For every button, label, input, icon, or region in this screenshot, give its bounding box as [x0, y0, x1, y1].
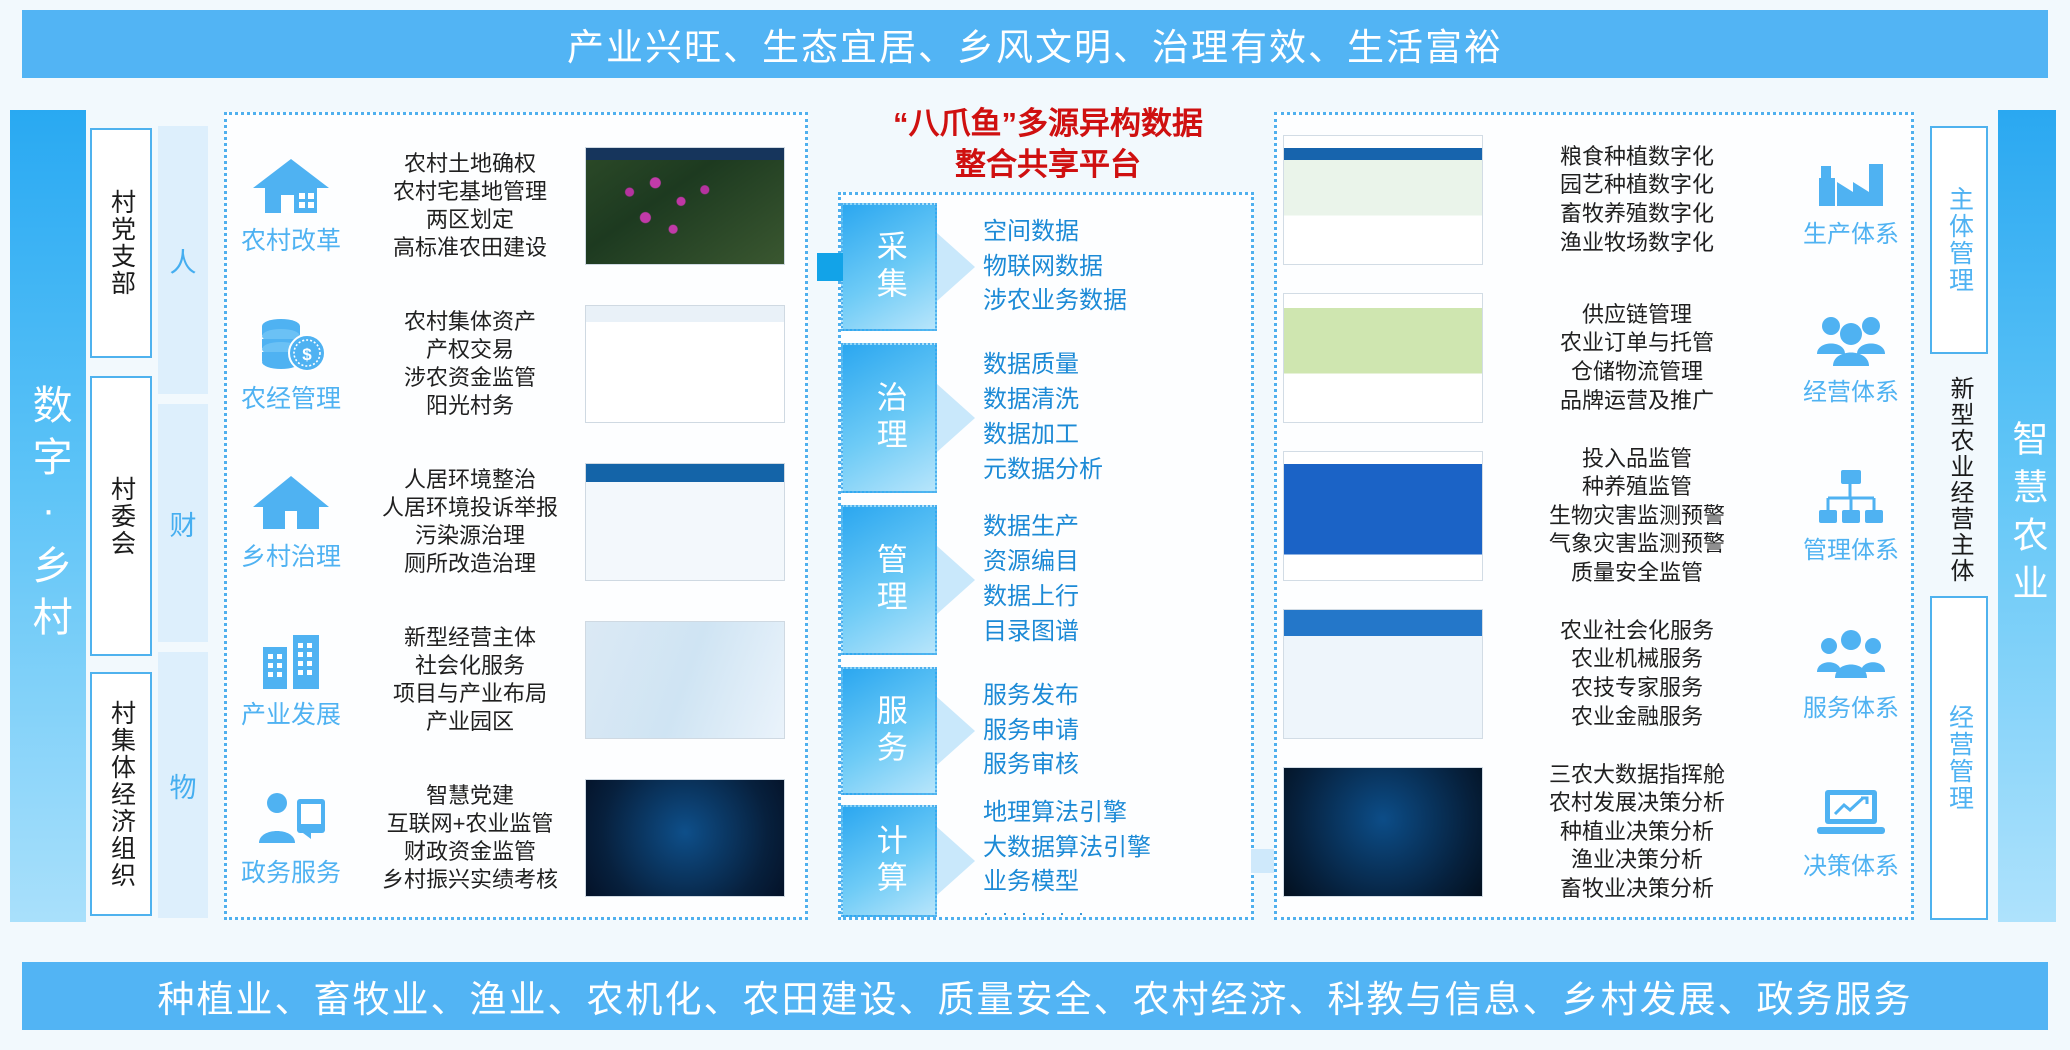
right-row-icon-wrap: 管理体系	[1791, 468, 1911, 565]
stage-input-nub	[817, 253, 843, 281]
right-row-icon-wrap: 服务体系	[1791, 626, 1911, 723]
feature-row-rural-governance[interactable]: 乡村治理 人居环境整治 人居环境投诉举报 污染源治理 厕所改造治理	[227, 445, 805, 599]
feature-label: 农村改革	[241, 221, 341, 257]
screenshot-agri-service-portal[interactable]	[1283, 609, 1483, 739]
screenshot-party-building-bigscreen[interactable]	[585, 779, 785, 897]
stage-items-text: 数据质量 数据清洗 数据加工 元数据分析	[983, 348, 1251, 487]
right-row-desc: 粮食种植数字化 园艺种植数字化 畜牧养殖数字化 渔业牧场数字化	[1483, 143, 1791, 257]
stage-items: 数据生产 资源编目 数据上行 目录图谱	[977, 505, 1251, 655]
resource-column: 人 财 物	[158, 112, 208, 920]
right-label-operation-management[interactable]: 经营管理	[1930, 596, 1988, 920]
org-box-village-party-branch[interactable]: 村党支部	[90, 128, 152, 358]
feature-desc: 新型经营主体 社会化服务 项目与产业布局 产业园区	[355, 624, 585, 737]
resource-assets: 物	[158, 652, 208, 918]
screenshot-supply-chain-portal[interactable]	[1283, 293, 1483, 423]
right-row-icon-wrap: 经营体系	[1791, 310, 1911, 407]
org-box-label: 村党支部	[108, 189, 135, 297]
stage-arrow-icon	[937, 805, 977, 917]
smart-agriculture-panel: 粮食种植数字化 园艺种植数字化 畜牧养殖数字化 渔业牧场数字化 生产体系 供应链…	[1274, 112, 1914, 920]
feature-row-rural-reform[interactable]: 农村改革 农村土地确权 农村宅基地管理 两区划定 高标准农田建设	[227, 129, 805, 283]
stage-row-manage[interactable]: 管理 数据生产 资源编目 数据上行 目录图谱	[841, 505, 1251, 655]
org-chart-icon	[1815, 468, 1887, 526]
right-row-icon-wrap: 决策体系	[1791, 784, 1911, 881]
feature-label: 产业发展	[241, 695, 341, 731]
right-row-desc: 三农大数据指挥舱 农村发展决策分析 种植业决策分析 渔业决策分析 畜牧业决策分析	[1483, 761, 1791, 904]
service-people-icon	[1815, 626, 1887, 684]
bottom-banner: 种植业、畜牧业、渔业、农机化、农田建设、质量安全、农村经济、科教与信息、乡村发展…	[22, 962, 2048, 1030]
feature-desc: 智慧党建 互联网+农业监管 财政资金监管 乡村振兴实绩考核	[355, 782, 585, 895]
house-icon	[251, 471, 331, 533]
feature-row-government-service[interactable]: 政务服务 智慧党建 互联网+农业监管 财政资金监管 乡村振兴实绩考核	[227, 761, 805, 915]
screenshot-asset-management-form[interactable]	[585, 305, 785, 423]
stage-row-service[interactable]: 服务 服务发布 服务申请 服务审核	[841, 667, 1251, 795]
feature-icon-wrap: $ 农经管理	[227, 313, 355, 415]
stage-items-text: 数据生产 资源编目 数据上行 目录图谱	[983, 510, 1251, 649]
right-row-desc: 供应链管理 农业订单与托管 仓储物流管理 品牌运营及推广	[1483, 301, 1791, 415]
laptop-chart-icon	[1815, 784, 1887, 842]
top-banner-text: 产业兴旺、生态宜居、乡风文明、治理有效、生活富裕	[567, 17, 1503, 71]
resource-label: 人	[170, 241, 197, 280]
service-person-icon	[251, 787, 331, 849]
stage-name: 采集	[872, 230, 905, 304]
right-rail: 智慧农业	[1998, 110, 2056, 922]
stage-name: 治理	[872, 381, 905, 455]
right-row-operation-system[interactable]: 供应链管理 农业订单与托管 仓储物流管理 品牌运营及推广 经营体系	[1277, 281, 1911, 435]
org-box-collective-economic-org[interactable]: 村集体经济组织	[90, 672, 152, 916]
stage-box-service[interactable]: 服务	[841, 667, 937, 795]
stage-name: 计算	[872, 824, 905, 898]
stage-row-govern[interactable]: 治理 数据质量 数据清洗 数据加工 元数据分析	[841, 343, 1251, 493]
village-domain-panel: 农村改革 农村土地确权 农村宅基地管理 两区划定 高标准农田建设 $	[224, 112, 808, 920]
stage-arrow-icon	[937, 505, 977, 655]
right-row-label: 经营体系	[1803, 372, 1899, 407]
feature-icon-wrap: 政务服务	[227, 787, 355, 889]
screenshot-industry-gis-map[interactable]	[585, 621, 785, 739]
left-rail-label: 数字·乡村	[26, 384, 69, 648]
right-row-management-system[interactable]: 投入品监管 种养殖监管 生物灾害监测预警 气象灾害监测预警 质量安全监管 管理体…	[1277, 439, 1911, 593]
feature-label: 政务服务	[241, 853, 341, 889]
screenshot-land-rights-map[interactable]	[585, 147, 785, 265]
stage-items: 地理算法引擎 大数据算法引擎 业务模型 · · · · · ·	[977, 805, 1251, 917]
stage-items-text: 地理算法引擎 大数据算法引擎 业务模型	[983, 796, 1251, 900]
bottom-banner-text: 种植业、畜牧业、渔业、农机化、农田建设、质量安全、农村经济、科教与信息、乡村发展…	[158, 969, 1913, 1023]
right-rail-label: 智慧农业	[2008, 420, 2047, 612]
left-rail: 数字·乡村	[10, 110, 86, 922]
coins-icon: $	[251, 313, 331, 375]
people-group-icon	[1815, 310, 1887, 368]
buildings-icon	[251, 629, 331, 691]
new-agri-entity-label: 新型农业经营主体	[1932, 330, 1986, 630]
right-row-icon-wrap: 生产体系	[1791, 152, 1911, 249]
resource-people: 人	[158, 126, 208, 394]
top-banner: 产业兴旺、生态宜居、乡风文明、治理有效、生活富裕	[22, 10, 2048, 78]
screenshot-governance-dashboard[interactable]	[585, 463, 785, 581]
stage-items-ellipsis: · · · · · ·	[983, 900, 1251, 926]
platform-panel: 采集 空间数据 物联网数据 涉农业务数据 治理 数据质量 数据清洗 数据加工 元…	[838, 192, 1254, 920]
right-row-decision-system[interactable]: 三农大数据指挥舱 农村发展决策分析 种植业决策分析 渔业决策分析 畜牧业决策分析…	[1277, 755, 1911, 909]
feature-label: 农经管理	[241, 379, 341, 415]
right-label-entity-management[interactable]: 主体管理	[1930, 126, 1988, 354]
new-agri-entity-text: 新型农业经营主体	[1946, 376, 1972, 584]
right-row-service-system[interactable]: 农业社会化服务 农业机械服务 农技专家服务 农业金融服务 服务体系	[1277, 597, 1911, 751]
feature-desc: 农村集体资产 产权交易 涉农资金监管 阳光村务	[355, 308, 585, 421]
stage-name: 管理	[872, 543, 905, 617]
infographic-page: 产业兴旺、生态宜居、乡风文明、治理有效、生活富裕 数字·乡村 村党支部 村委会 …	[0, 0, 2070, 1050]
screenshot-decision-bigscreen[interactable]	[1283, 767, 1483, 897]
right-row-desc: 农业社会化服务 农业机械服务 农技专家服务 农业金融服务	[1483, 617, 1791, 731]
stage-items-text: 空间数据 物联网数据 涉农业务数据	[983, 215, 1251, 319]
feature-desc: 农村土地确权 农村宅基地管理 两区划定 高标准农田建设	[355, 150, 585, 263]
feature-desc: 人居环境整治 人居环境投诉举报 污染源治理 厕所改造治理	[355, 466, 585, 579]
right-label-text: 经营管理	[1946, 704, 1973, 812]
stage-box-compute[interactable]: 计算	[841, 805, 937, 917]
stage-items: 空间数据 物联网数据 涉农业务数据	[977, 203, 1251, 331]
stage-arrow-icon	[937, 203, 977, 331]
svg-text:$: $	[302, 345, 312, 364]
platform-title: “八爪鱼”多源异构数据 整合共享平台	[838, 104, 1258, 186]
org-box-label: 村集体经济组织	[108, 700, 135, 889]
stage-items: 数据质量 数据清洗 数据加工 元数据分析	[977, 343, 1251, 493]
right-row-label: 管理体系	[1803, 530, 1899, 565]
stage-box-govern[interactable]: 治理	[841, 343, 937, 493]
stage-arrow-icon	[937, 667, 977, 795]
right-row-label: 服务体系	[1803, 688, 1899, 723]
factory-icon	[1815, 152, 1887, 210]
right-label-text: 主体管理	[1946, 186, 1973, 294]
feature-icon-wrap: 农村改革	[227, 155, 355, 257]
stage-row-compute[interactable]: 计算 地理算法引擎 大数据算法引擎 业务模型 · · · · · ·	[841, 805, 1251, 917]
resource-finance: 财	[158, 404, 208, 642]
stage-row-collect[interactable]: 采集 空间数据 物联网数据 涉农业务数据	[841, 203, 1251, 331]
stage-items-text: 服务发布 服务申请 服务审核	[983, 679, 1251, 783]
right-row-label: 生产体系	[1803, 214, 1899, 249]
right-row-desc: 投入品监管 种养殖监管 生物灾害监测预警 气象灾害监测预警 质量安全监管	[1483, 445, 1791, 588]
org-box-label: 村委会	[108, 476, 135, 557]
stage-arrow-icon	[937, 343, 977, 493]
org-box-village-committee[interactable]: 村委会	[90, 376, 152, 656]
right-row-label: 决策体系	[1803, 846, 1899, 881]
home-reform-icon	[251, 155, 331, 217]
screenshot-digital-planting-portal[interactable]	[1283, 135, 1483, 265]
stage-box-collect[interactable]: 采集	[841, 203, 937, 331]
feature-row-industry-development[interactable]: 产业发展 新型经营主体 社会化服务 项目与产业布局 产业园区	[227, 603, 805, 757]
stage-name: 服务	[872, 694, 905, 768]
feature-icon-wrap: 产业发展	[227, 629, 355, 731]
resource-label: 物	[170, 766, 197, 805]
org-column: 村党支部 村委会 村集体经济组织	[90, 112, 152, 920]
feature-row-rural-economy[interactable]: $ 农经管理 农村集体资产 产权交易 涉农资金监管 阳光村务	[227, 287, 805, 441]
resource-label: 财	[170, 504, 197, 543]
screenshot-food-safety-portal[interactable]	[1283, 451, 1483, 581]
stage-box-manage[interactable]: 管理	[841, 505, 937, 655]
feature-icon-wrap: 乡村治理	[227, 471, 355, 573]
stage-items: 服务发布 服务申请 服务审核	[977, 667, 1251, 795]
feature-label: 乡村治理	[241, 537, 341, 573]
right-row-production-system[interactable]: 粮食种植数字化 园艺种植数字化 畜牧养殖数字化 渔业牧场数字化 生产体系	[1277, 123, 1911, 277]
